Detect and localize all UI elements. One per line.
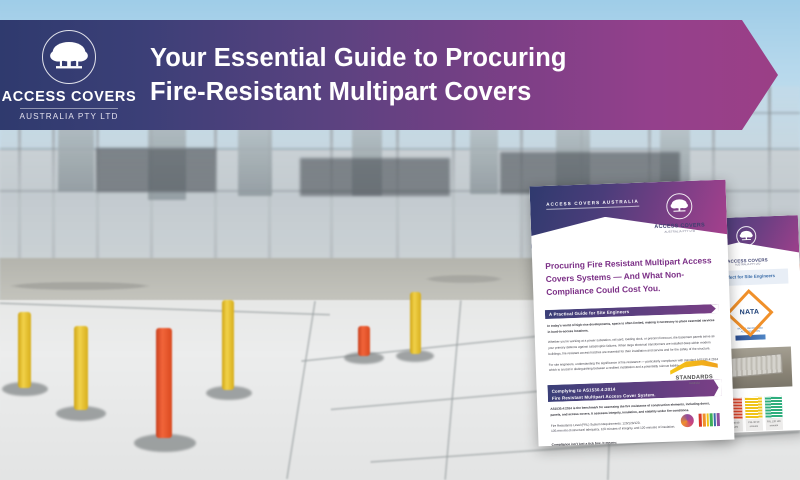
document-mockups: ACCESS COVERS AUSTRALIA PTY LTD Perfect … [520, 175, 800, 465]
company-logo: ACCESS COVERS AUSTRALIA PTY LTD [0, 30, 138, 121]
header-banner: ACCESS COVERS AUSTRALIA PTY LTD Your Ess… [0, 20, 778, 130]
tree-icon [737, 227, 756, 246]
paragraph: In today's world of high-rise developmen… [547, 318, 717, 335]
nata-accreditation: NATA WORLD RECOGNISED ACCREDITATION [727, 295, 773, 341]
colour-bars-icon [699, 413, 720, 427]
front-page-logo: ACCESS COVERS AUSTRALIA PTY LTD [653, 192, 705, 234]
front-standards-logo: STANDARDS Australia [670, 359, 719, 386]
brochure-front-page[interactable]: ACCESS COVERS AUSTRALIA ACCESS COVERS AU… [530, 180, 735, 447]
logo-name: ACCESS COVERS [2, 89, 137, 105]
headline-line-1: Your Essential Guide to Procuring [150, 41, 567, 75]
section-heading-practical-guide: A Practical Guide for Site Engineers [545, 304, 719, 319]
rating-bar: FRL 120 120 minutes [764, 396, 782, 430]
swoosh-icon [670, 359, 718, 375]
headline-line-2: Fire-Resistant Multipart Covers [150, 75, 567, 109]
logo-subtitle: AUSTRALIA PTY LTD [20, 108, 119, 121]
document-title: Procuring Fire Resistant Multipart Acces… [545, 254, 716, 299]
certification-ring-icon [681, 414, 694, 427]
tree-icon [667, 194, 692, 219]
logo-circle [42, 30, 96, 84]
tree-icon [43, 31, 95, 83]
front-page-partner-logos [681, 413, 720, 427]
compliant-checklist: Compliance isn't just a tick box. It mea… [551, 437, 722, 446]
paragraph: Whether you're working at a power substa… [548, 335, 718, 358]
rating-bar-label: FRL 120 120 minutes [765, 418, 782, 430]
section-heading-text: A Practical Guide for Site Engineers [549, 309, 630, 317]
rating-bar-label: FRL 90 90 minutes [745, 419, 762, 431]
back-page-logo: ACCESS COVERS AUSTRALIA PTY LTD [726, 225, 768, 267]
checklist-title: Compliance isn't just a tick box. It mea… [551, 437, 721, 446]
rating-bar: FRL 90 90 minutes [744, 397, 762, 431]
section-heading-text: Complying to AS1530.4:2014 Fire Resistan… [552, 384, 656, 402]
banner-headline: Your Essential Guide to Procuring Fire-R… [150, 41, 567, 109]
